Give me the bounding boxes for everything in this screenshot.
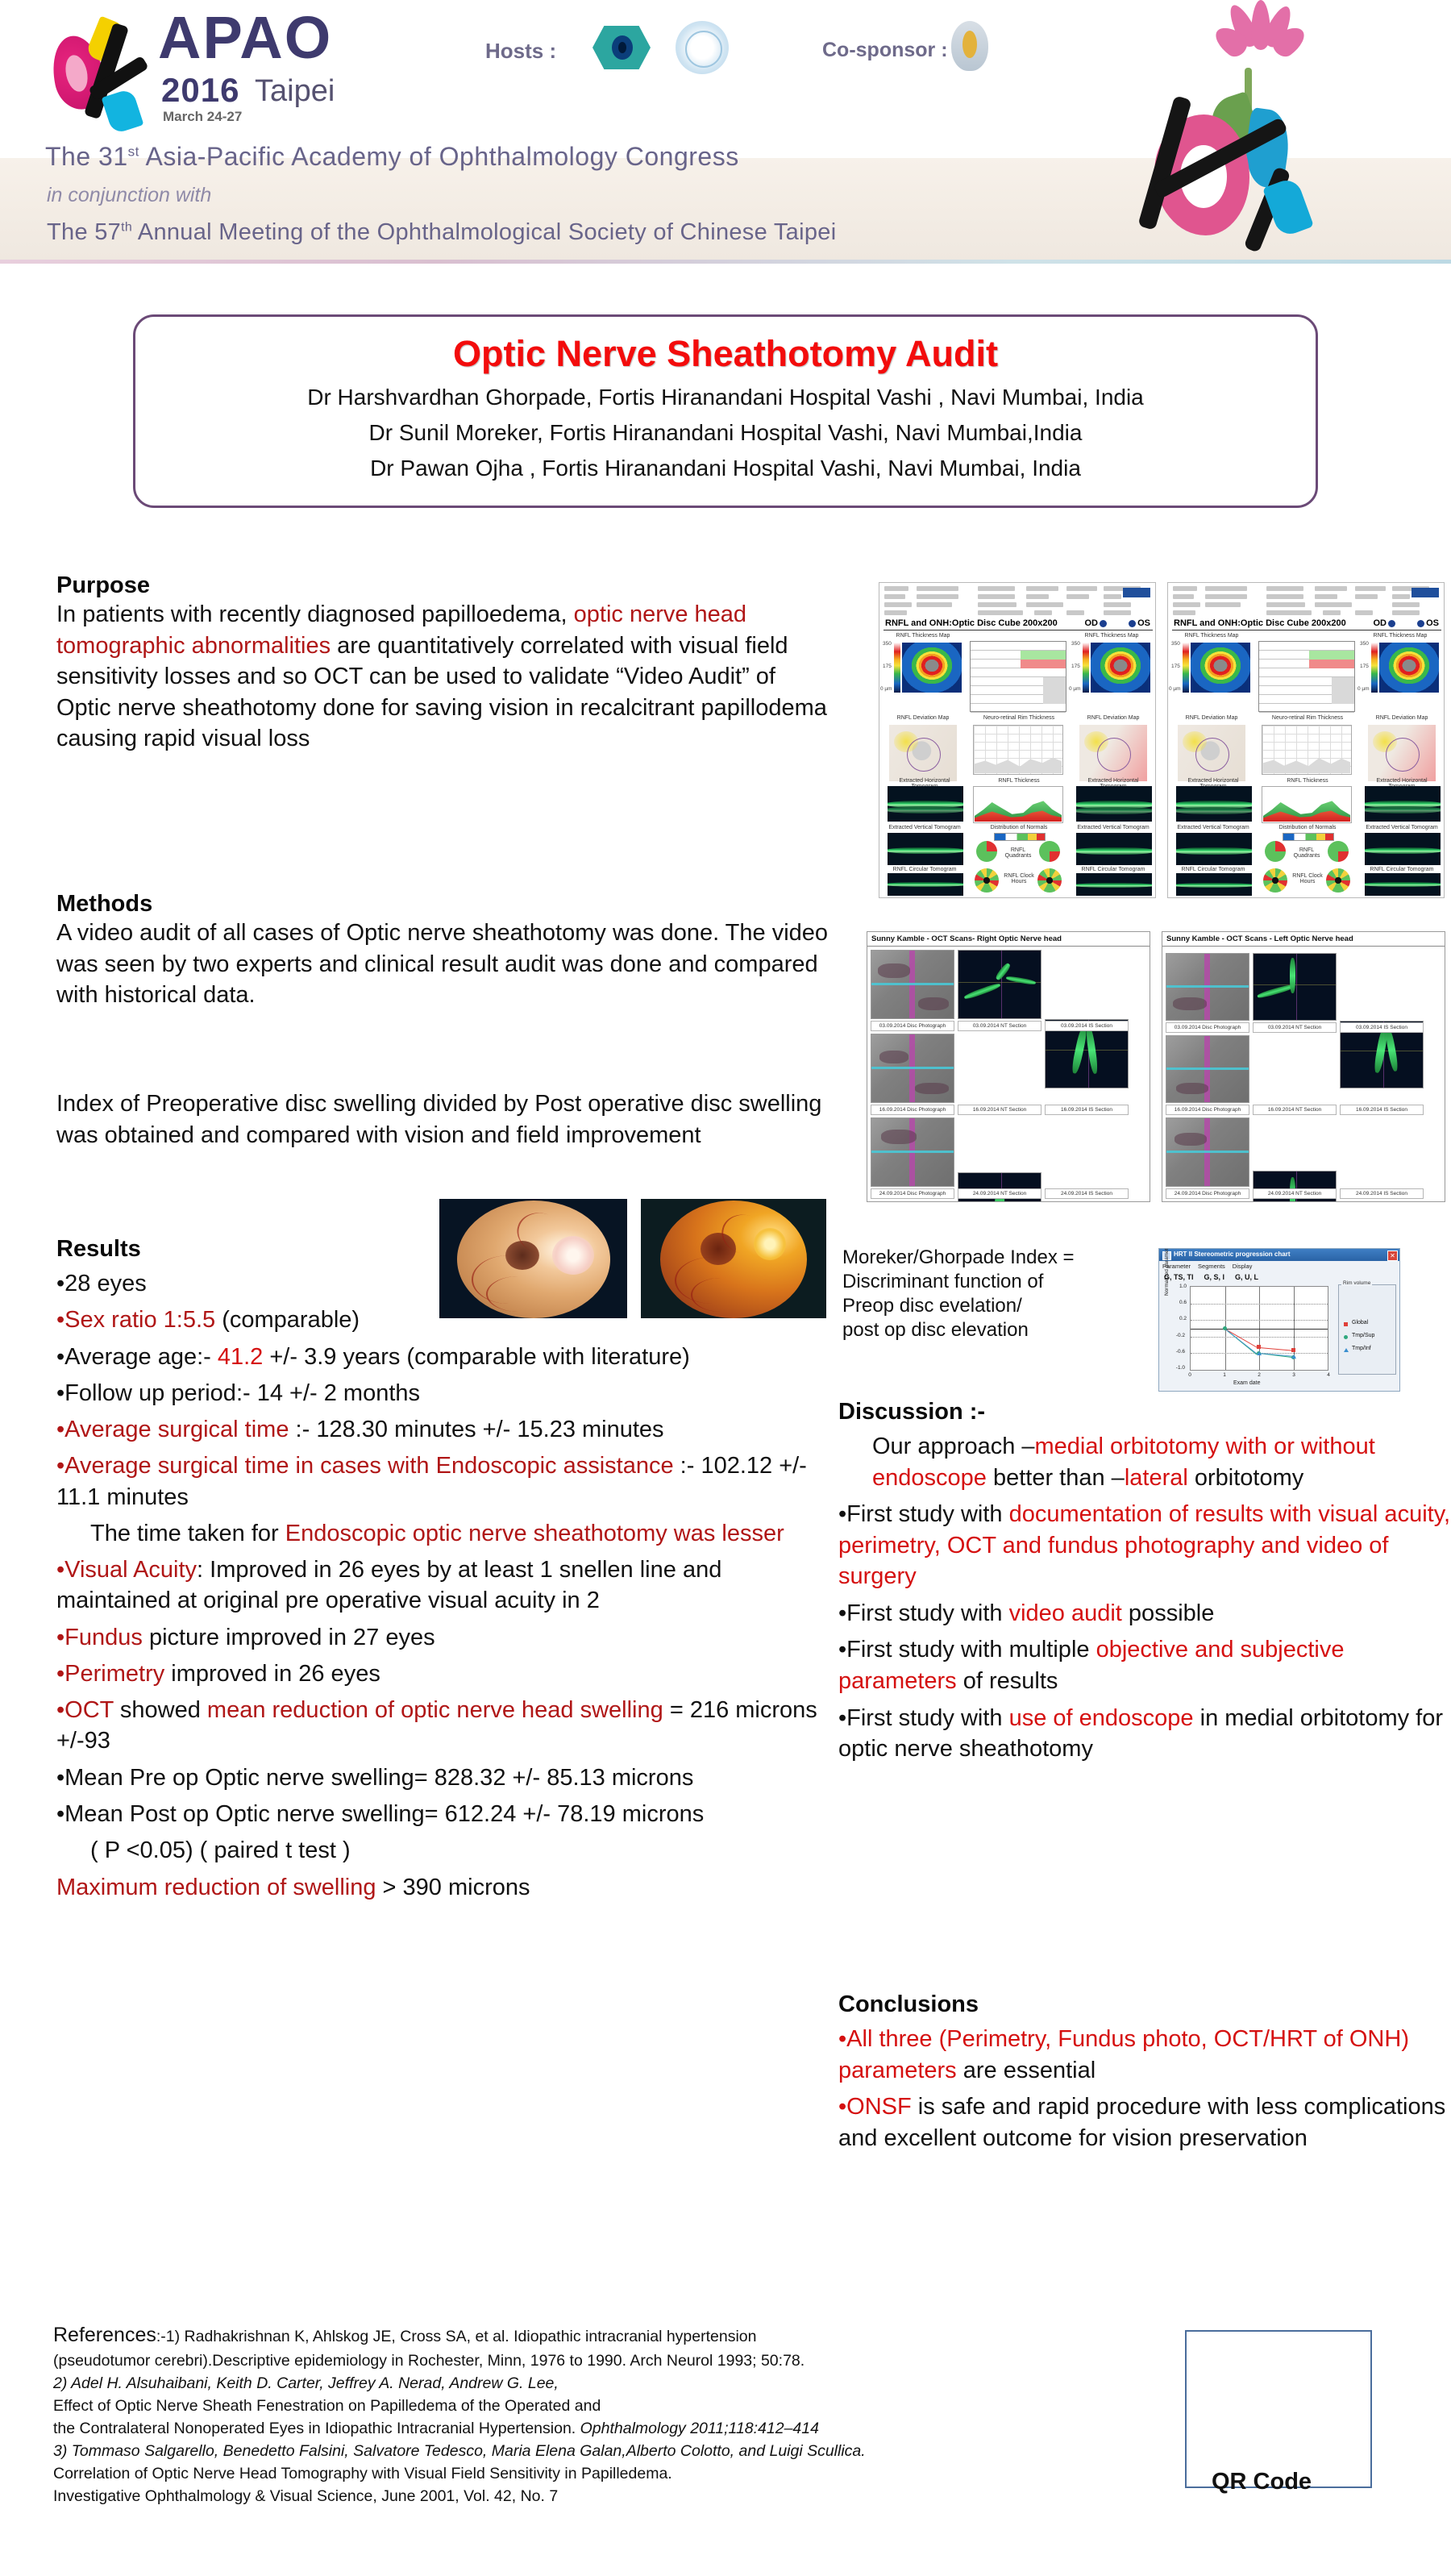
- page-title: Optic Nerve Sheathotomy Audit: [135, 333, 1316, 375]
- author-line-1: Dr Harshvardhan Ghorpade, Fortis Hiranan…: [135, 385, 1316, 410]
- conclusions-onsf-a: •ONSF: [838, 2094, 912, 2120]
- oct-deviation-map-label-od: RNFL Deviation Map: [888, 715, 958, 721]
- references-block: References:-1) Radhakrishnan K, Ahlskog …: [53, 2320, 1150, 2508]
- scan-label-r3-c1: 24.09.2014 Disc Photograph: [871, 1188, 954, 1199]
- discussion-endo-a: •First study with: [838, 1705, 1009, 1731]
- oct-circ-tomogram-label-od-2: RNFL Circular Tomogram: [1175, 867, 1252, 872]
- results-endoscopic-note: The time taken for Endoscopic optic nerv…: [90, 1518, 830, 1549]
- results-perimetry-value: improved in 26 eyes: [164, 1661, 380, 1687]
- reference-2c-journal: Ophthalmology 2011;118:412–414: [580, 2420, 819, 2437]
- references-label: References: [53, 2324, 156, 2346]
- legend-entry-tmpsup: Tmp/Sup: [1352, 1333, 1374, 1338]
- purpose-text: In patients with recently diagnosed papi…: [56, 599, 830, 755]
- results-max-reduction-label: Maximum reduction of swelling: [56, 1875, 376, 1900]
- x-tick-2: 2: [1255, 1372, 1263, 1378]
- legend-title: Rim volume: [1341, 1280, 1372, 1286]
- results-age-label: •Average age:-: [56, 1344, 218, 1370]
- results-max-reduction: Maximum reduction of swelling > 390 micr…: [56, 1872, 830, 1903]
- scan-label-l3-c3: 24.09.2014 IS Section: [1340, 1188, 1424, 1199]
- results-bullet-postop-swelling: •Mean Post op Optic nerve swelling= 612.…: [56, 1799, 830, 1829]
- banner-conjunction-line: in conjunction with: [47, 184, 211, 207]
- scan-label-l2-c3: 16.09.2014 IS Section: [1340, 1105, 1424, 1115]
- reference-2b: Effect of Optic Nerve Sheath Fenestratio…: [53, 2395, 1150, 2417]
- qr-code-label: QR Code: [1212, 2469, 1312, 2495]
- hrt-segment-labels: G, TS, TIG, S, IG, U, L: [1164, 1273, 1269, 1281]
- oct-deviation-map-label-os-2: RNFL Deviation Map: [1366, 715, 1437, 721]
- chart-legend: Rim volume Global Tmp/Sup Tmp/Inf: [1338, 1284, 1396, 1375]
- scan-label-l1-c1: 03.09.2014 Disc Photograph: [1166, 1022, 1249, 1033]
- oct-report-left: RNFL and ONH:Optic Disc Cube 200x200 OD …: [879, 582, 1156, 898]
- reference-1a: :-1) Radhakrishnan K, Ahlskog JE, Cross …: [156, 2328, 757, 2345]
- conclusions-bullet-onsf: •ONSF is safe and rapid procedure with l…: [838, 2091, 1451, 2154]
- results-oct-highlight: mean reduction of optic nerve head swell…: [207, 1697, 663, 1723]
- oct-clock-label-right: RNFL Clock Hours: [1291, 873, 1324, 884]
- scan-label-r2-c2: 16.09.2014 NT Section: [958, 1105, 1041, 1115]
- results-bullet-surgical-time: •Average surgical time :- 128.30 minutes…: [56, 1414, 830, 1445]
- disc-photograph-l2: [1166, 1035, 1249, 1103]
- index-note-line-2: Discriminant function of: [842, 1270, 1165, 1294]
- scan-label-r1-c1: 03.09.2014 Disc Photograph: [871, 1021, 954, 1031]
- banner-congress-pre: The 31: [45, 142, 128, 171]
- results-sex-ratio-note: (comparable): [215, 1307, 360, 1333]
- discussion-approach: Our approach –medial orbitotomy with or …: [872, 1431, 1451, 1493]
- results-surgical-time-value: :- 128.30 minutes +/- 15.23 minutes: [289, 1417, 663, 1442]
- x-tick-4: 4: [1324, 1372, 1333, 1378]
- methods-heading: Methods: [56, 891, 830, 918]
- discussion-video-c: possible: [1122, 1600, 1214, 1626]
- oct-summary-table-left: [970, 641, 1066, 712]
- datapoint-tmpinf-x2: [1257, 1351, 1262, 1355]
- results-age-value: 41.2: [218, 1344, 263, 1370]
- disc-photograph-l1: [1166, 953, 1249, 1021]
- oct-os-label-right: OS: [1416, 618, 1439, 628]
- references-line-1: References:-1) Radhakrishnan K, Ahlskog …: [53, 2320, 1150, 2349]
- oct-brand-badge-right: [1412, 588, 1439, 597]
- oct-neuro-rim-label-right: Neuro-retinal Rim Thickness: [1263, 715, 1352, 721]
- disc-photograph-r3: [871, 1117, 954, 1187]
- reference-1b: (pseudotumor cerebri).Descriptive epidem…: [53, 2349, 1150, 2372]
- conference-banner: APAO 2016 Taipei March 24-27 Hosts : Co-…: [0, 0, 1451, 266]
- discussion-heading: Discussion :-: [838, 1399, 1451, 1425]
- oct-thickness-map-label-od-2: RNFL Thickness Map: [1179, 633, 1244, 639]
- x-tick-0: 0: [1186, 1372, 1194, 1378]
- apao-logo-mark: [47, 15, 145, 134]
- methods-paragraph-2: Index of Preoperative disc swelling divi…: [56, 1088, 830, 1151]
- scan-label-l2-c1: 16.09.2014 Disc Photograph: [1166, 1105, 1249, 1115]
- oct-circ-tomogram-label-os: RNFL Circular Tomogram: [1075, 867, 1152, 872]
- results-bullet-preop-swelling: •Mean Pre op Optic nerve swelling= 828.3…: [56, 1762, 830, 1793]
- reference-3b: Correlation of Optic Nerve Head Tomograp…: [53, 2462, 1150, 2485]
- disc-photograph-r1: [871, 950, 954, 1019]
- conclusions-param-b: are essential: [957, 2058, 1096, 2083]
- index-note-line-1: Moreker/Ghorpade Index =: [842, 1246, 1165, 1270]
- author-line-2: Dr Sunil Moreker, Fortis Hiranandani Hos…: [135, 420, 1316, 446]
- results-bullet-age: •Average age:- 41.2 +/- 3.9 years (compa…: [56, 1342, 830, 1372]
- host-logo-circular-icon: [676, 21, 729, 74]
- methods-paragraph-1: A video audit of all cases of Optic nerv…: [56, 918, 830, 1011]
- x-tick-3: 3: [1290, 1372, 1298, 1378]
- results-visual-acuity-label: •Visual Acuity: [56, 1557, 197, 1583]
- conclusions-onsf-b: is safe and rapid procedure with less co…: [838, 2094, 1445, 2151]
- menu-item-segments[interactable]: Segments: [1198, 1263, 1225, 1270]
- cosponsor-label: Co-sponsor :: [822, 39, 948, 62]
- results-bullet-sex-ratio: •Sex ratio 1:5.5 (comparable): [56, 1305, 830, 1335]
- x-axis-label: Exam date: [1233, 1380, 1260, 1386]
- discussion-param-c: of results: [957, 1668, 1058, 1694]
- poster-title-box: Optic Nerve Sheathotomy Audit Dr Harshva…: [133, 314, 1318, 508]
- oct-thickness-map-label-os-2: RNFL Thickness Map: [1368, 633, 1432, 639]
- reference-3a: 3) Tommaso Salgarello, Benedetto Falsini…: [53, 2440, 1150, 2462]
- oct-quadrants-label-right: RNFL Quadrants: [1289, 847, 1324, 859]
- banner-meeting-post: Annual Meeting of the Ophthalmological S…: [132, 219, 836, 245]
- oct-neuro-rim-label-left: Neuro-retinal Rim Thickness: [975, 715, 1063, 721]
- scan-label-r3-c3: 24.09.2014 IS Section: [1045, 1188, 1129, 1199]
- oct-norm-label-left: Distribution of Normals: [989, 825, 1049, 830]
- results-sex-ratio-label: •Sex ratio 1:5.5: [56, 1307, 215, 1333]
- results-endoscopic-note-a: The time taken for: [90, 1521, 285, 1546]
- oct-scan-panel-left-title: Sunny Kamble - OCT Scans - Left Optic Ne…: [1166, 934, 1353, 943]
- index-note-line-4: post op disc elevation: [842, 1318, 1165, 1342]
- discussion-doc-a: •First study with: [838, 1501, 1009, 1527]
- cosponsor-logo-icon: [951, 21, 988, 71]
- oct-deviation-map-label-od-2: RNFL Deviation Map: [1176, 715, 1247, 721]
- purpose-text-a: In patients with recently diagnosed papi…: [56, 601, 574, 627]
- host-logo-eye-icon: [592, 23, 651, 73]
- results-fundus-label: •Fundus: [56, 1625, 143, 1650]
- lotus-calligraphy-artwork: [1112, 0, 1451, 263]
- results-endoscopic-time-label: •Average surgical time in cases with End…: [56, 1453, 674, 1479]
- segment-label-3: G, U, L: [1235, 1273, 1258, 1281]
- oct-summary-table-right: [1258, 641, 1355, 712]
- hrt-window-title: HRT II Stereometric progression chart: [1174, 1251, 1290, 1258]
- y-tick-6: -1.0: [1170, 1365, 1185, 1371]
- results-bullet-oct: •OCT showed mean reduction of optic nerv…: [56, 1695, 830, 1757]
- oct-scan-panels: Sunny Kamble - OCT Scans- Right Optic Ne…: [867, 931, 1451, 1205]
- oct-od-label-left: OD: [1085, 618, 1109, 628]
- discussion-approach-d: lateral: [1125, 1465, 1188, 1491]
- oct-report-metadata-right: [1173, 586, 1415, 615]
- discussion-endo-b: use of endoscope: [1009, 1705, 1194, 1731]
- y-tick-1: 1.0: [1172, 1284, 1187, 1289]
- scan-label-l2-c2: 16.09.2014 NT Section: [1253, 1105, 1337, 1115]
- apao-logo-text: APAO: [158, 8, 332, 68]
- oct-report-right: RNFL and ONH:Optic Disc Cube 200x200 OD …: [1167, 582, 1445, 898]
- oct-scale-mid-os-2: 175: [1360, 664, 1369, 669]
- apao-year: 2016: [161, 71, 239, 110]
- close-icon[interactable]: ✕: [1387, 1251, 1398, 1261]
- oct-scale-bot-od-2: 0 µm: [1169, 686, 1181, 692]
- index-note-line-3: Preop disc evelation/: [842, 1294, 1165, 1318]
- oct-os-text-left: OS: [1137, 618, 1150, 628]
- results-surgical-time-label: •Average surgical time: [56, 1417, 289, 1442]
- banner-divider: [0, 260, 1451, 264]
- results-endoscopic-note-b: Endoscopic optic nerve sheathotomy was l…: [285, 1521, 784, 1546]
- scan-label-l3-c2: 24.09.2014 NT Section: [1253, 1188, 1337, 1199]
- discussion-bullet-video-audit: •First study with video audit possible: [838, 1598, 1451, 1629]
- oct-os-text-right: OS: [1426, 618, 1439, 628]
- results-oct-showed: showed: [114, 1697, 207, 1723]
- moreker-ghorpade-index-note: Moreker/Ghorpade Index = Discriminant fu…: [842, 1246, 1165, 1342]
- oct-norm-label-right: Distribution of Normals: [1278, 825, 1337, 830]
- discussion-approach-a: Our approach –: [872, 1434, 1035, 1459]
- conclusions-heading: Conclusions: [838, 1991, 1451, 2018]
- reference-2c: the Contralateral Nonoperated Eyes in Id…: [53, 2417, 1150, 2440]
- y-tick-3: 0.2: [1172, 1316, 1187, 1321]
- reference-3c: Investigative Ophthalmology & Visual Sci…: [53, 2485, 1150, 2507]
- results-max-reduction-value: > 390 microns: [376, 1875, 530, 1900]
- oct-rnfl-thickness-label-left: RNFL Thickness: [984, 778, 1054, 784]
- purpose-heading: Purpose: [56, 572, 830, 599]
- y-tick-2: 0.6: [1172, 1300, 1187, 1305]
- disc-photograph-l3: [1166, 1117, 1249, 1187]
- scan-label-r1-c3: 03.09.2014 IS Section: [1045, 1021, 1129, 1031]
- y-axis-label: Normalized parameter value: [1164, 1248, 1170, 1296]
- results-bullet-eyes: •28 eyes: [56, 1268, 830, 1299]
- oct-thickness-map-label-od: RNFL Thickness Map: [891, 633, 955, 639]
- oct-od-label-right: OD: [1374, 618, 1398, 628]
- results-perimetry-label: •Perimetry: [56, 1661, 164, 1687]
- nt-section-l1: [1253, 953, 1337, 1021]
- apao-city: Taipei: [255, 74, 335, 109]
- oct-scale-top-os-2: 350: [1360, 641, 1369, 647]
- oct-scan-panel-right-eye: Sunny Kamble - OCT Scans- Right Optic Ne…: [867, 931, 1150, 1202]
- scan-label-l1-c3: 03.09.2014 IS Section: [1340, 1022, 1424, 1033]
- oct-scale-mid-od: 175: [883, 664, 892, 669]
- oct-scale-top-os: 350: [1071, 641, 1080, 647]
- oct-scale-bot-os: 0 µm: [1069, 686, 1081, 692]
- scan-label-r2-c1: 16.09.2014 Disc Photograph: [871, 1105, 954, 1115]
- section-purpose: Purpose In patients with recently diagno…: [56, 572, 830, 755]
- section-discussion: Discussion :- Our approach –medial orbit…: [838, 1399, 1451, 1765]
- section-results: Results •28 eyes •Sex ratio 1:5.5 (compa…: [56, 1236, 830, 1903]
- banner-meeting-line: The 57th Annual Meeting of the Ophthalmo…: [47, 219, 836, 246]
- scan-label-r3-c2: 24.09.2014 NT Section: [958, 1188, 1041, 1199]
- oct-deviation-map-label-os: RNFL Deviation Map: [1078, 715, 1149, 721]
- scan-label-r1-c2: 03.09.2014 NT Section: [958, 1021, 1041, 1031]
- disc-photograph-r2: [871, 1034, 954, 1103]
- banner-meeting-sup: th: [121, 220, 132, 234]
- menu-item-display[interactable]: Display: [1233, 1263, 1253, 1270]
- datapoint-tmpinf-x3: [1291, 1355, 1296, 1359]
- oct-scale-mid-od-2: 175: [1171, 664, 1180, 669]
- oct-clock-label-left: RNFL Clock Hours: [1002, 873, 1036, 884]
- hosts-label: Hosts :: [485, 39, 556, 64]
- results-fundus-value: picture improved in 27 eyes: [143, 1625, 435, 1650]
- oct-report-panels: RNFL and ONH:Optic Disc Cube 200x200 OD …: [879, 582, 1451, 905]
- conclusions-param-a: •All three (Perimetry, Fundus photo, OCT…: [838, 2026, 1409, 2083]
- oct-os-label-left: OS: [1127, 618, 1150, 628]
- oct-scale-mid-os: 175: [1071, 664, 1080, 669]
- oct-circ-tomogram-label-os-2: RNFL Circular Tomogram: [1363, 867, 1441, 872]
- qr-code-placeholder[interactable]: [1185, 2330, 1372, 2488]
- discussion-approach-c: better than –: [987, 1465, 1125, 1491]
- oct-scan-panel-right-header: Sunny Kamble - OCT Scans- Right Optic Ne…: [867, 932, 1150, 947]
- author-line-3: Dr Pawan Ojha , Fortis Hiranandani Hospi…: [135, 456, 1316, 481]
- banner-congress-sup: st: [128, 144, 139, 159]
- results-oct-label: •OCT: [56, 1697, 114, 1723]
- hrt-window-menubar[interactable]: ParameterSegmentsDisplay: [1162, 1263, 1259, 1270]
- scan-label-l1-c2: 03.09.2014 NT Section: [1253, 1022, 1337, 1033]
- oct-scale-top-od: 350: [883, 641, 892, 647]
- results-age-rest: +/- 3.9 years (comparable with literatur…: [263, 1344, 689, 1370]
- oct-scale-bot-os-2: 0 µm: [1357, 686, 1370, 692]
- oct-vert-tomogram-label-od: Extracted Vertical Tomogram: [886, 825, 963, 830]
- oct-rnfl-thickness-label-right: RNFL Thickness: [1273, 778, 1342, 784]
- conclusions-bullet-parameters: •All three (Perimetry, Fundus photo, OCT…: [838, 2024, 1451, 2086]
- legend-entry-global: Global: [1352, 1320, 1368, 1325]
- oct-scan-panel-left-header: Sunny Kamble - OCT Scans - Left Optic Ne…: [1162, 932, 1445, 947]
- oct-brand-badge-left: [1123, 588, 1150, 597]
- results-bullet-followup: •Follow up period:- 14 +/- 2 months: [56, 1378, 830, 1409]
- y-tick-4: -0.2: [1170, 1333, 1185, 1338]
- oct-scale-top-od-2: 350: [1171, 641, 1180, 647]
- banner-congress-post: Asia-Pacific Academy of Ophthalmology Co…: [139, 142, 739, 171]
- results-bullet-fundus: •Fundus picture improved in 27 eyes: [56, 1622, 830, 1653]
- discussion-bullet-parameters: •First study with multiple objective and…: [838, 1634, 1451, 1696]
- section-methods-index: Index of Preoperative disc swelling divi…: [56, 1088, 830, 1151]
- oct-report-title-right: RNFL and ONH:Optic Disc Cube 200x200: [1174, 618, 1346, 628]
- oct-vert-tomogram-label-os-2: Extracted Vertical Tomogram: [1363, 825, 1441, 830]
- oct-quadrants-label-left: RNFL Quadrants: [1000, 847, 1036, 859]
- oct-scale-bot-od: 0 µm: [880, 686, 892, 692]
- scan-label-r2-c3: 16.09.2014 IS Section: [1045, 1105, 1129, 1115]
- oct-thickness-map-label-os: RNFL Thickness Map: [1079, 633, 1144, 639]
- oct-circ-tomogram-label-od: RNFL Circular Tomogram: [886, 867, 963, 872]
- hrt-window-titlebar: HRT II Stereometric progression chart ✕: [1159, 1249, 1399, 1261]
- oct-vert-tomogram-label-os: Extracted Vertical Tomogram: [1075, 825, 1152, 830]
- apao-dates: March 24-27: [163, 109, 242, 125]
- hrt-progression-chart-window[interactable]: HRT II Stereometric progression chart ✕ …: [1158, 1248, 1400, 1392]
- oct-scan-panel-right-title: Sunny Kamble - OCT Scans- Right Optic Ne…: [871, 934, 1062, 943]
- x-tick-1: 1: [1220, 1372, 1229, 1378]
- section-methods: Methods A video audit of all cases of Op…: [56, 891, 830, 1011]
- legend-entry-tmpinf: Tmp/Inf: [1352, 1346, 1371, 1351]
- results-pvalue: ( P <0.05) ( paired t test ): [90, 1835, 830, 1866]
- y-tick-5: -0.6: [1170, 1349, 1185, 1355]
- oct-od-text-right: OD: [1374, 618, 1387, 628]
- nt-section-r1: [958, 950, 1041, 1019]
- discussion-video-b: video audit: [1009, 1600, 1122, 1626]
- discussion-approach-e: orbitotomy: [1188, 1465, 1303, 1491]
- datapoint-global-x3: [1291, 1348, 1295, 1352]
- oct-scan-panel-left-eye: Sunny Kamble - OCT Scans - Left Optic Ne…: [1162, 931, 1445, 1202]
- datapoint-global-x2: [1257, 1345, 1261, 1349]
- discussion-param-a: •First study with multiple: [838, 1637, 1096, 1663]
- banner-congress-line: The 31st Asia-Pacific Academy of Ophthal…: [45, 142, 739, 172]
- segment-label-2: G, S, I: [1204, 1273, 1225, 1281]
- section-conclusions: Conclusions •All three (Perimetry, Fundu…: [838, 1991, 1451, 2154]
- oct-report-title-left: RNFL and ONH:Optic Disc Cube 200x200: [885, 618, 1058, 628]
- reference-2a: 2) Adel H. Alsuhaibani, Keith D. Carter,…: [53, 2372, 1150, 2395]
- oct-report-metadata-left: [884, 586, 1126, 615]
- reference-2c-text: the Contralateral Nonoperated Eyes in Id…: [53, 2420, 580, 2437]
- results-bullet-perimetry: •Perimetry improved in 26 eyes: [56, 1658, 830, 1689]
- hrt-chart-plot-area: [1190, 1286, 1328, 1371]
- discussion-bullet-documentation: •First study with documentation of resul…: [838, 1499, 1451, 1592]
- discussion-bullet-endoscope: •First study with use of endoscope in me…: [838, 1703, 1451, 1765]
- results-bullet-visual-acuity: •Visual Acuity: Improved in 26 eyes by a…: [56, 1554, 830, 1617]
- scan-label-l3-c1: 24.09.2014 Disc Photograph: [1166, 1188, 1249, 1199]
- banner-meeting-pre: The 57: [47, 219, 121, 245]
- results-heading: Results: [56, 1236, 830, 1263]
- oct-od-text-left: OD: [1085, 618, 1099, 628]
- results-bullet-endoscopic-time: •Average surgical time in cases with End…: [56, 1450, 830, 1513]
- oct-vert-tomogram-label-od-2: Extracted Vertical Tomogram: [1175, 825, 1252, 830]
- discussion-video-a: •First study with: [838, 1600, 1009, 1626]
